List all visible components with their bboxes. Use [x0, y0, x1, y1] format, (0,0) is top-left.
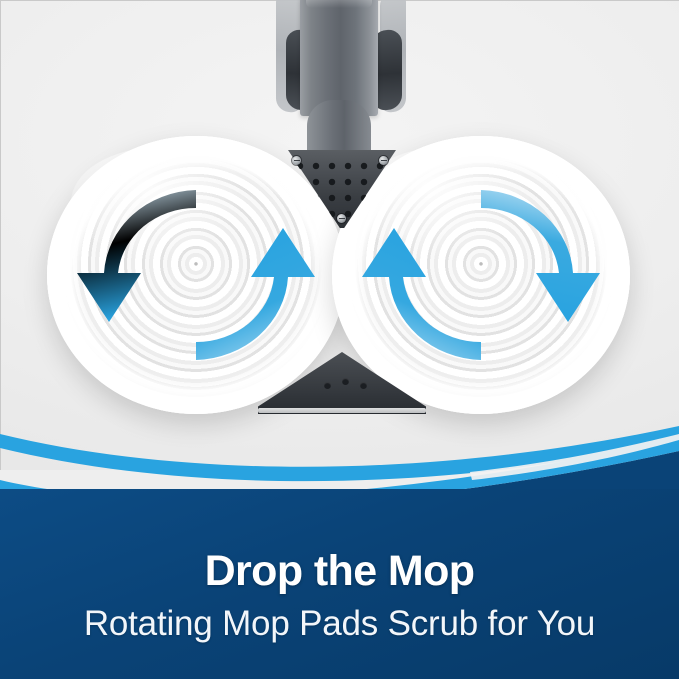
- banner-headline: Drop the Mop: [0, 550, 679, 593]
- text-banner: Drop the Mop Rotating Mop Pads Scrub for…: [0, 489, 679, 679]
- rotation-arrows-left: [47, 136, 345, 414]
- product-photo: [0, 0, 679, 470]
- banner-subline: Rotating Mop Pads Scrub for You: [0, 606, 679, 641]
- arrow-up-right-icon: [196, 228, 315, 360]
- handle-shaft: [300, 0, 378, 116]
- arrow-down-right-icon: [481, 190, 600, 322]
- marketing-image: Drop the Mop Rotating Mop Pads Scrub for…: [0, 0, 679, 679]
- arrow-down-left-icon: [77, 190, 196, 322]
- rotation-arrows-right: [332, 136, 630, 414]
- arrow-up-left-icon: [362, 228, 481, 360]
